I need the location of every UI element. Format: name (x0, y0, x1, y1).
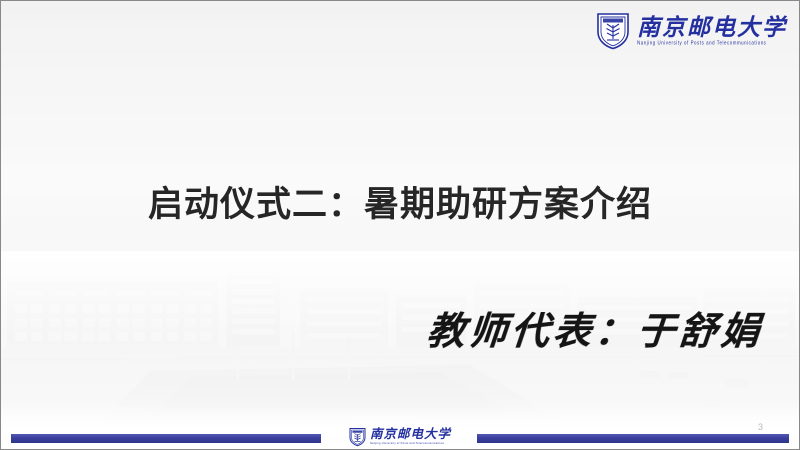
subtitle-block: 教师代表：于舒娟 (427, 309, 763, 353)
university-name-cn-footer: 南京邮电大学 (370, 428, 451, 441)
university-name-en: Nanjing University of Posts and Telecomm… (637, 41, 787, 46)
slide-title: 启动仪式二：暑期助研方案介绍 (1, 184, 799, 228)
slide-subtitle-speaker: 教师代表：于舒娟 (425, 309, 765, 353)
page-number: 3 (758, 423, 763, 432)
footer-bar-right (477, 434, 789, 443)
title-block: 启动仪式二：暑期助研方案介绍 (1, 184, 799, 228)
footer-bar-left (11, 434, 321, 443)
university-name-en-footer: Nanjing University of Posts and Telecomm… (370, 443, 451, 446)
university-wordmark: 南京邮电大学 Nanjing University of Posts and T… (637, 16, 787, 45)
university-shield-icon (596, 12, 630, 50)
slide-footer: 南京邮电大学 Nanjing University of Posts and T… (1, 415, 799, 449)
university-logo-header: 南京邮电大学 Nanjing University of Posts and T… (596, 12, 787, 50)
university-name-cn: 南京邮电大学 (637, 16, 787, 39)
university-logo-footer: 南京邮电大学 Nanjing University of Posts and T… (349, 427, 451, 447)
university-shield-icon-footer (349, 427, 366, 447)
university-wordmark-footer: 南京邮电大学 Nanjing University of Posts and T… (370, 428, 451, 445)
presentation-slide: 南京邮电大学 Nanjing University of Posts and T… (0, 0, 800, 450)
